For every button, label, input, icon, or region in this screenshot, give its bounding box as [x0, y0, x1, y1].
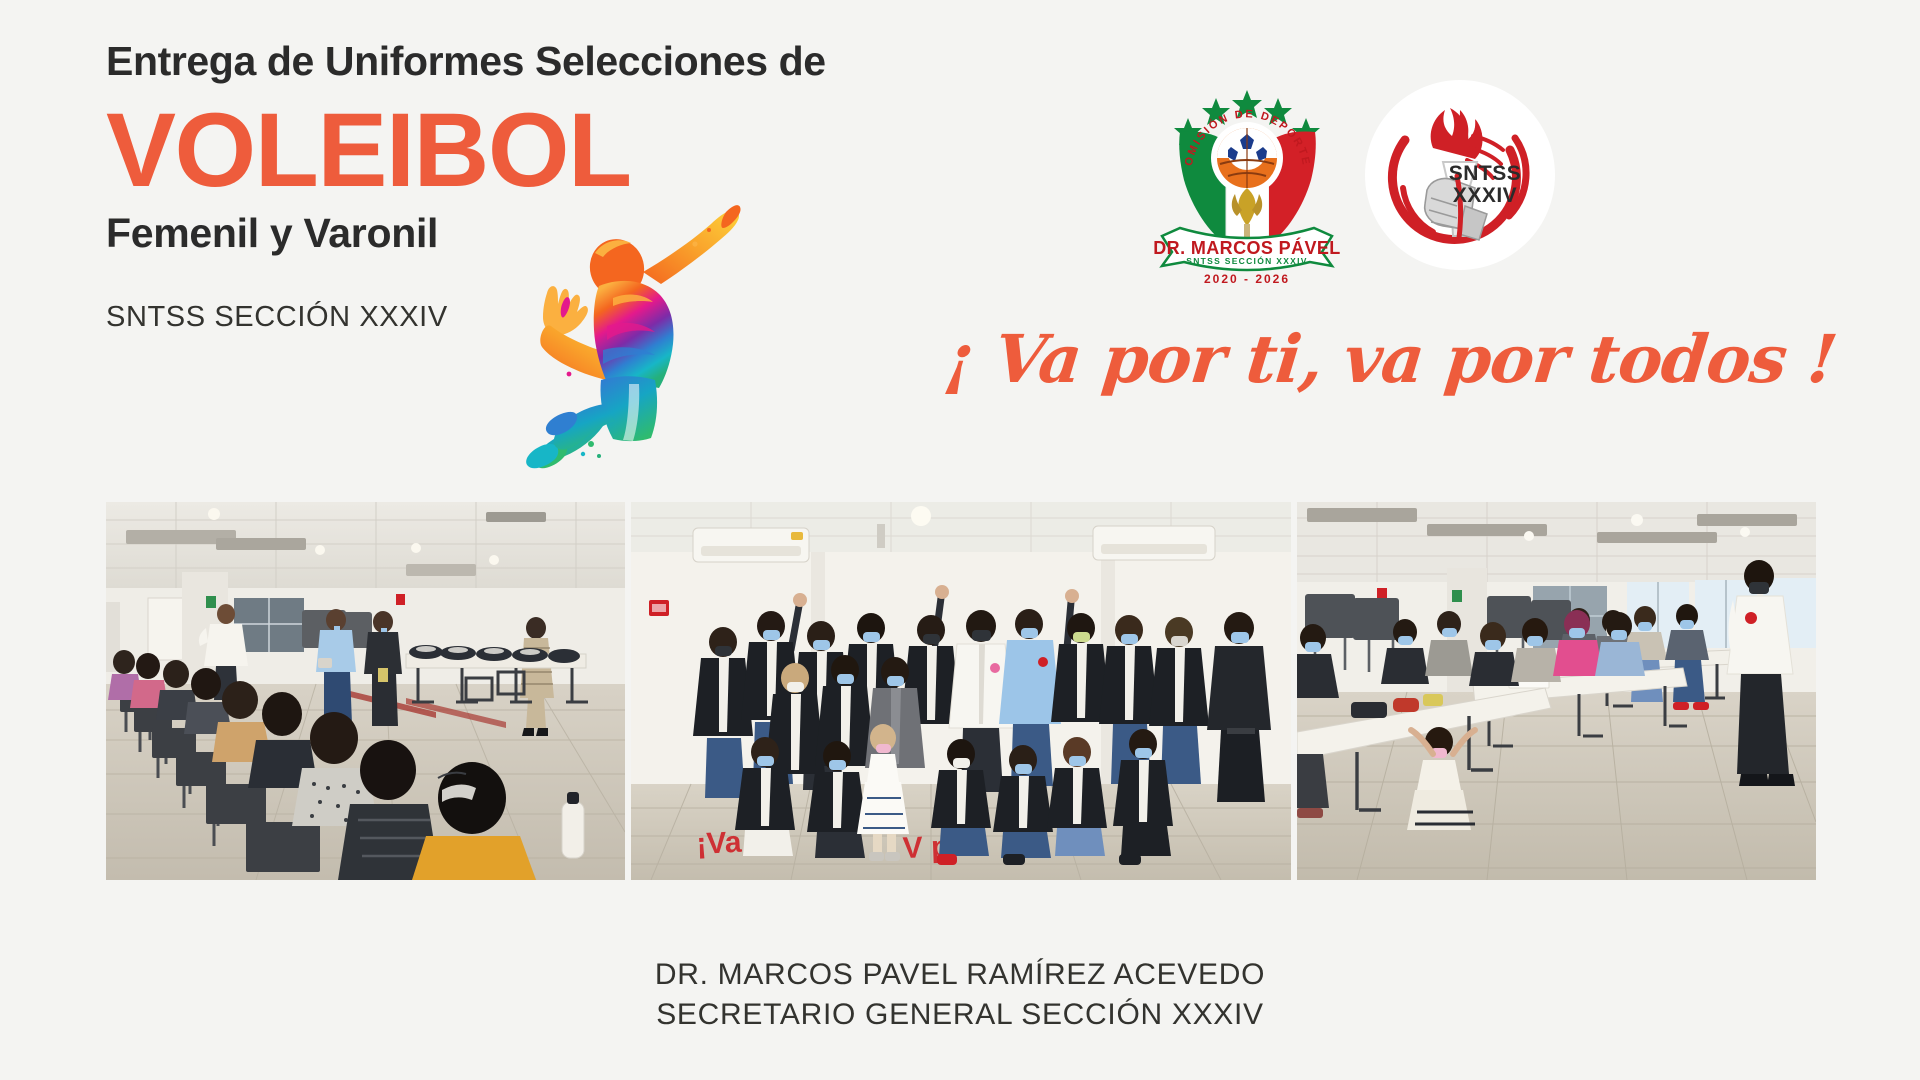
poster-canvas: Entrega de Uniformes Selecciones de VOLE…	[0, 0, 1920, 1080]
footer-line-1: DR. MARCOS PAVEL RAMÍREZ ACEVEDO	[0, 955, 1920, 995]
torch-logo-line1: SNTSS	[1449, 162, 1522, 185]
footer-signature: DR. MARCOS PAVEL RAMÍREZ ACEVEDO SECRETA…	[0, 955, 1920, 1034]
page-title: VOLEIBOL	[106, 97, 906, 204]
slogan-text: ¡ Va por ti, va por todos !	[941, 320, 1840, 398]
crest-years-text: 2020 - 2026	[1204, 272, 1290, 286]
torch-logo-line2: XXXIV	[1453, 184, 1517, 207]
photo-audience-seated-hall	[106, 502, 625, 880]
crest-ribbon-text: DR. MARCOS PÁVEL	[1153, 237, 1340, 258]
volleyball-player-icon	[495, 198, 780, 473]
photo-strip: ¡Va V p	[106, 502, 1818, 880]
footer-line-2: SECRETARIO GENERAL SECCIÓN XXXIV	[0, 995, 1920, 1035]
page-kicker: Entrega de Uniformes Selecciones de	[106, 40, 906, 83]
photo-briefing-tables	[1297, 502, 1816, 880]
comision-de-deportes-crest-icon: COMISIÓN DE DEPORTES DR. MARCOS PÁVEL SN…	[1140, 58, 1355, 288]
crest-ribbon-subtext: SNTSS SECCIÓN XXXIV	[1186, 255, 1308, 266]
sntss-xxxiv-torch-icon: SNTSS XXXIV	[1365, 80, 1555, 270]
photo-team-group-uniforms: ¡Va V p	[631, 502, 1291, 880]
logo-row: COMISIÓN DE DEPORTES DR. MARCOS PÁVEL SN…	[1140, 58, 1570, 293]
svg-text:¡Va: ¡Va	[696, 826, 743, 861]
